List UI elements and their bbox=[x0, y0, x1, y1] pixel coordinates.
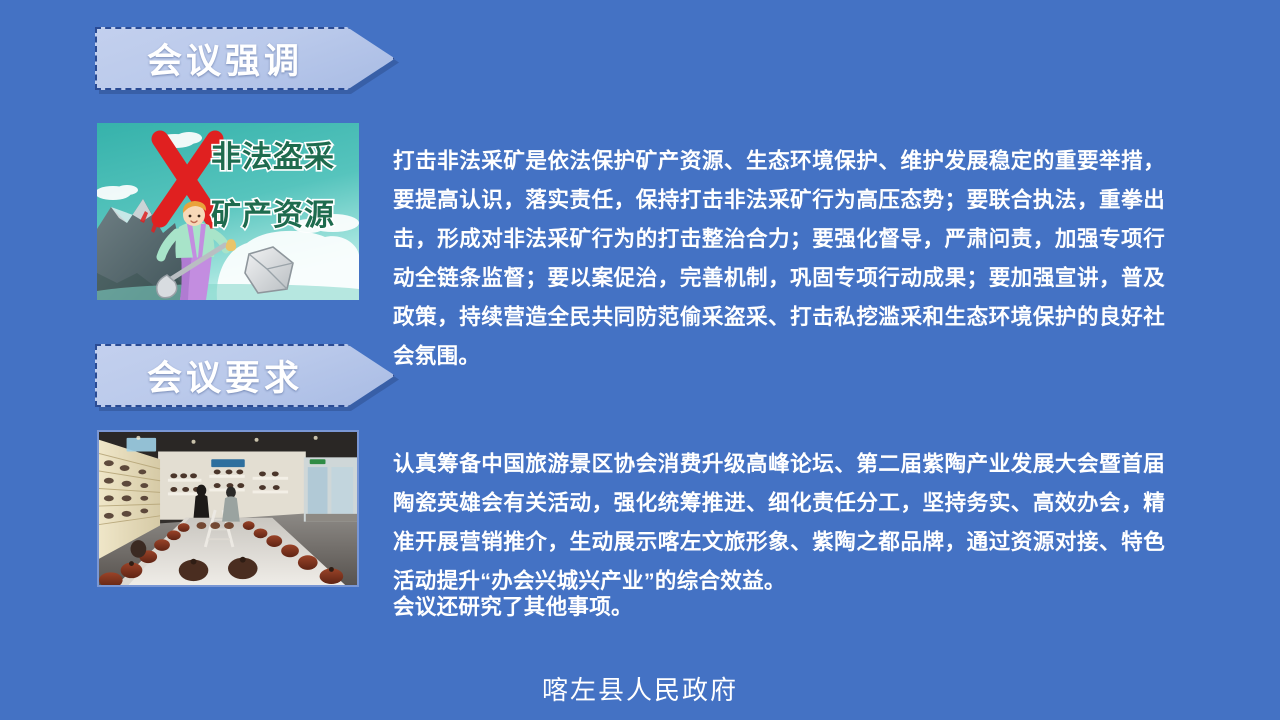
section-paragraph-meeting-emphasis: 打击非法采矿是依法保护矿产资源、生态环境保护、维护发展稳定的重要举措，要提高认识… bbox=[393, 142, 1165, 376]
section-paragraph-other-matters: 会议还研究了其他事项。 bbox=[393, 588, 1165, 627]
section-banner-label: 会议强调 bbox=[147, 33, 303, 84]
poster-headline-line1: 非法盗采 bbox=[211, 141, 335, 174]
footer-organization-name: 喀左县人民政府 bbox=[0, 670, 1280, 707]
section-paragraph-meeting-requirement: 认真筹备中国旅游景区协会消费升级高峰论坛、第二届紫陶产业发展大会暨首届陶瓷英雄会… bbox=[393, 445, 1165, 601]
slide-canvas: 会议强调 bbox=[0, 0, 1280, 720]
exhibition-hall-photo bbox=[99, 432, 357, 585]
section-banner-label: 会议要求 bbox=[147, 350, 303, 401]
figure-illegal-mining-poster: 非法盗采 矿产资源 bbox=[97, 123, 359, 300]
poster-illustration: 非法盗采 矿产资源 bbox=[97, 123, 359, 300]
figure-ceramics-exhibition-photo bbox=[97, 430, 359, 587]
section-banner-meeting-requirement: 会议要求 bbox=[95, 344, 395, 407]
poster-headline-line2: 矿产资源 bbox=[211, 198, 335, 232]
section-banner-meeting-emphasis: 会议强调 bbox=[95, 27, 395, 90]
